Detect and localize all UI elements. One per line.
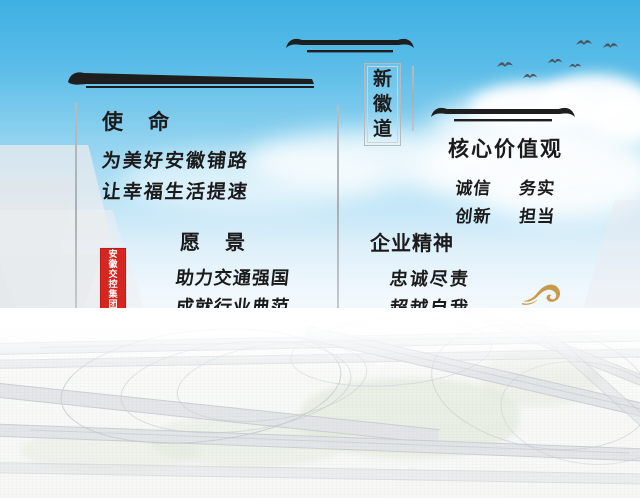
highway-interchange-photo	[0, 308, 640, 498]
mission-block: 使 命 为美好安徽铺路 让幸福生活提速	[102, 106, 249, 204]
spirit-block: 企业精神 忠诚尽责 超越自我	[370, 227, 470, 320]
eave-roof-icon	[428, 104, 578, 126]
spirit-line-1: 忠诚尽责	[389, 265, 472, 291]
column-divider	[412, 66, 414, 131]
mission-heading: 使 命	[102, 106, 249, 136]
bird-icon	[602, 41, 619, 51]
poster-title-inner: 新 徽 道	[367, 66, 398, 143]
bird-icon	[522, 72, 538, 81]
core-values-block: 核心价值观 诚信 务实 创新 担当	[448, 133, 563, 227]
eave-roof-icon	[66, 68, 316, 90]
seal-char-5: 集	[108, 290, 117, 300]
core-values-word-1: 诚信	[454, 179, 492, 199]
title-char-3: 道	[373, 117, 392, 142]
core-values-line-2: 创新 担当	[447, 202, 565, 227]
bird-icon	[547, 57, 563, 66]
title-char-1: 新	[373, 67, 392, 92]
core-values-word-4: 担当	[518, 207, 556, 227]
mission-line-2: 让幸福生活提速	[101, 177, 251, 204]
title-char-2: 徽	[373, 92, 392, 117]
core-values-word-3: 创新	[454, 207, 492, 227]
seal-char-4: 控	[108, 280, 117, 290]
vision-heading: 愿 景	[180, 226, 290, 255]
vision-block: 愿 景 助力交通强国 成就行业典范	[176, 226, 290, 319]
core-values-word-2: 务实	[518, 179, 556, 199]
seal-char-2: 徽	[108, 260, 117, 270]
auspicious-cloud-icon	[521, 278, 567, 311]
seal-char-1: 安	[108, 250, 117, 260]
seal-char-3: 交	[108, 270, 117, 280]
vision-line-1: 助力交通强国	[175, 264, 292, 290]
poster-title-box: 新 徽 道	[364, 63, 401, 146]
bird-icon	[575, 38, 593, 48]
bird-icon	[496, 60, 514, 70]
bird-icon	[568, 62, 582, 70]
core-values-heading: 核心价值观	[448, 133, 563, 163]
eave-roof-icon	[283, 35, 417, 57]
spirit-heading: 企业精神	[370, 227, 470, 256]
column-divider	[75, 103, 77, 312]
core-values-line-1: 诚信 务实	[447, 174, 565, 199]
poster-canvas: 新 徽 道 使 命 为美好安徽铺路 让幸福生活提速 核心价值观 诚信 务实 创新…	[0, 0, 640, 498]
mission-line-1: 为美好安徽铺路	[101, 146, 251, 173]
company-seal: 安 徽 交 控 集 团	[100, 248, 126, 312]
photo-top-fade	[0, 308, 640, 378]
column-divider	[337, 105, 339, 310]
